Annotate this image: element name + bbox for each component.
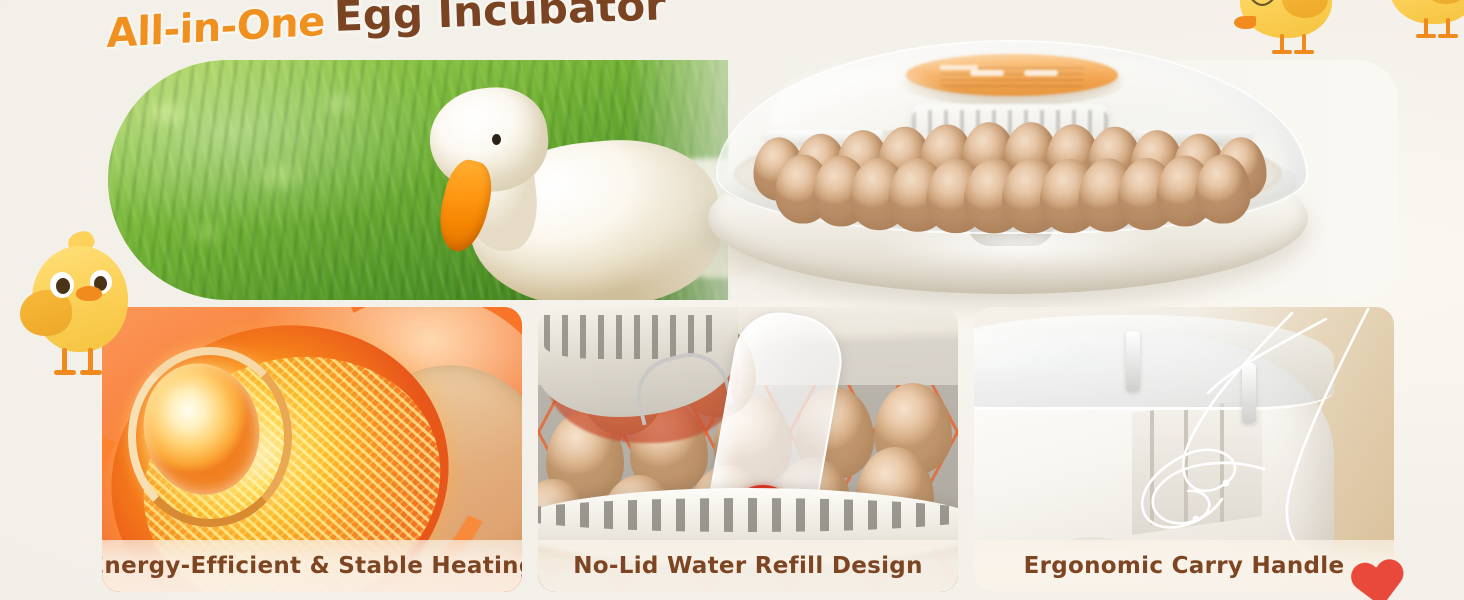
chick-beak <box>76 286 102 301</box>
chick-top-right-1-decoration <box>1236 0 1340 60</box>
lid-highlight <box>974 331 1174 371</box>
feature-caption-1: Energy-Efficient & Stable Heating <box>102 553 522 579</box>
title-main-text: Egg Incubator <box>334 0 667 41</box>
rim-vent-teeth <box>538 498 958 532</box>
feature-card-carry-handle[interactable]: Ergonomic Carry Handle <box>974 307 1394 592</box>
title-accent-text: All-in-One <box>106 0 325 57</box>
page-title: All-in-One Egg Incubator <box>105 0 667 57</box>
egg-ring <box>128 347 292 527</box>
chick-top-right-2-decoration <box>1384 0 1464 46</box>
chick-foot-right <box>1294 50 1314 54</box>
chick-pupil-left <box>56 278 70 294</box>
incubator-eggs <box>740 118 1280 228</box>
feature-caption-2: No-Lid Water Refill Design <box>573 553 923 579</box>
handle-rib <box>1150 405 1154 525</box>
feature-caption-bar-3: Ergonomic Carry Handle <box>974 540 1394 592</box>
transparent-lid-edge <box>974 315 1334 410</box>
feature-panel-row: Energy-Efficient & Stable Heating <box>102 307 1394 592</box>
feature-caption-3: Ergonomic Carry Handle <box>1024 553 1345 579</box>
lid-latch-right <box>1242 363 1256 423</box>
feature-card-water-refill[interactable]: No-Lid Water Refill Design <box>538 307 958 592</box>
handle-rib <box>1220 399 1224 527</box>
feature-card-heating[interactable]: Energy-Efficient & Stable Heating <box>102 307 522 592</box>
chick-foot-left <box>54 370 76 375</box>
chick-foot-left <box>1416 34 1436 38</box>
heart-decoration <box>1349 558 1409 600</box>
chick-foot-right <box>80 370 102 375</box>
handle-rib <box>1184 402 1188 526</box>
chick-foot-right <box>1438 34 1458 38</box>
chick-beak <box>1234 16 1256 29</box>
grass-bokeh <box>108 60 438 300</box>
chick-closed-eye-icon <box>1248 0 1278 12</box>
feature-caption-bar-1: Energy-Efficient & Stable Heating <box>102 540 522 592</box>
lid-latch-left <box>1126 331 1140 391</box>
banner-root: All-in-One Egg Incubator <box>0 0 1464 600</box>
chick-foot-left <box>1272 50 1292 54</box>
chick-left-decoration <box>22 232 142 392</box>
duck-photo <box>108 60 728 300</box>
feature-caption-bar-2: No-Lid Water Refill Design <box>538 540 958 592</box>
incubator-product <box>700 30 1320 300</box>
duck-eye <box>492 134 501 145</box>
